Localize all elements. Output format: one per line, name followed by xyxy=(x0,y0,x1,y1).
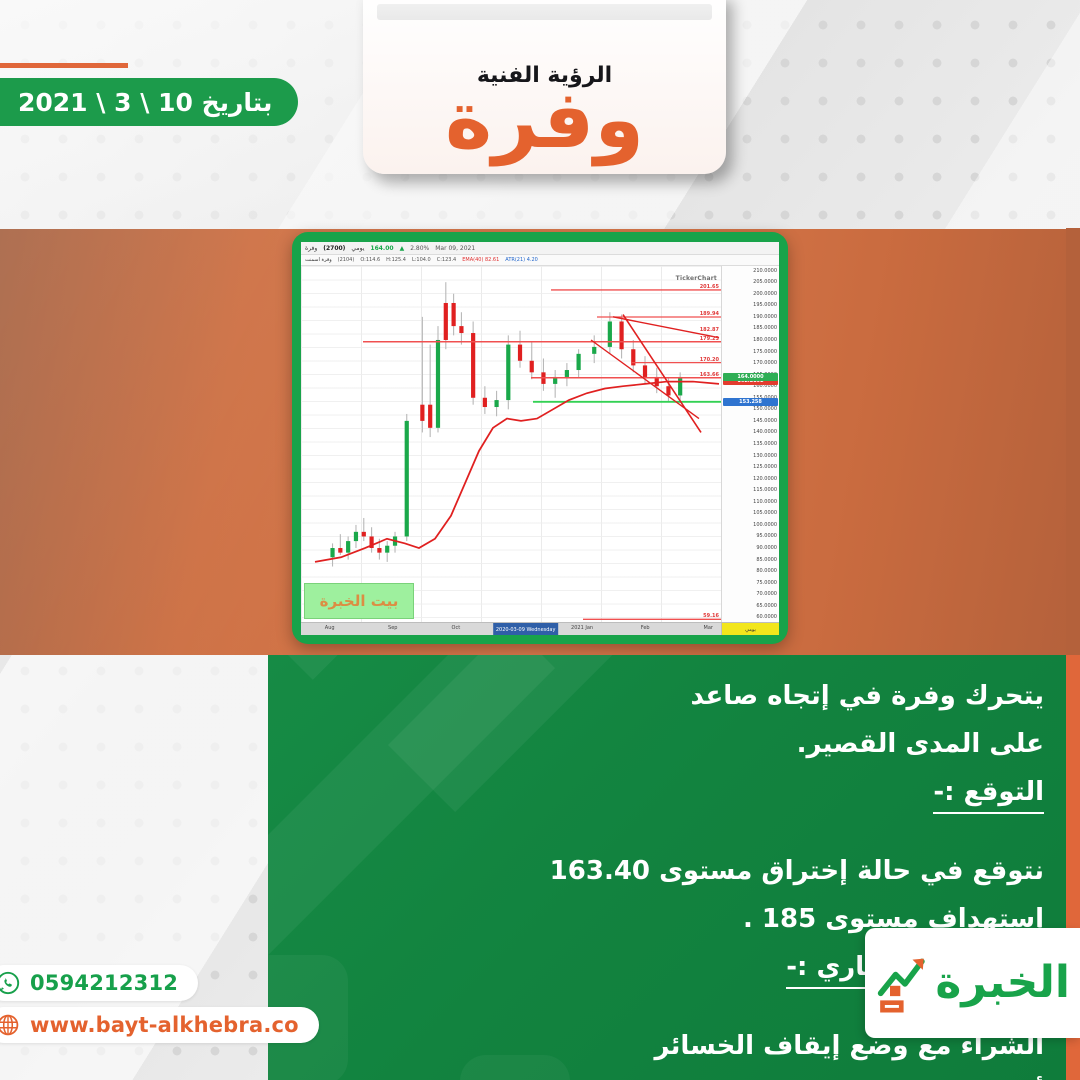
price-axis-tick: 115.0000 xyxy=(753,487,777,493)
time-axis-tick: Mar xyxy=(704,625,713,631)
chart-symbol-code: (2700) xyxy=(323,245,345,252)
whatsapp-icon xyxy=(0,971,20,995)
chart-plot-area[interactable]: TickerChart بيت الخبرة 201.65189.94182.8… xyxy=(301,266,721,622)
chart-level-label: 201.65 xyxy=(700,284,719,290)
price-axis-tick: 150.0000 xyxy=(753,406,777,412)
price-axis-tick: 185.0000 xyxy=(753,325,777,331)
price-axis-tick: 205.0000 xyxy=(753,279,777,285)
time-axis-tick: Sep xyxy=(388,625,397,631)
chart-price-axis[interactable]: 210.0000205.0000200.0000195.0000190.0000… xyxy=(721,266,779,622)
chart-ohlc-close: C:123.4 xyxy=(437,257,457,263)
price-axis-tick: 120.0000 xyxy=(753,476,777,482)
analysis-line: التوقع :- xyxy=(344,779,1044,836)
price-axis-tick: 190.0000 xyxy=(753,314,777,320)
bayt-alkhebra-watermark-text: بيت الخبرة xyxy=(320,592,399,610)
date-badge-label: بتاريخ 10 \ 3 \ 2021 xyxy=(18,88,272,117)
title-card: الرؤية الفنية وفرة xyxy=(363,0,726,174)
orange-rule-divider xyxy=(0,63,128,68)
chart-screenshot[interactable]: وفرة (2700) يومي 164.00 ▲ 2.80% Mar 09, … xyxy=(301,242,779,635)
analysis-line: نتوقع في حالة إختراق مستوى 163.40 xyxy=(344,858,1044,884)
chart-code-2: (2104) xyxy=(338,257,355,263)
price-axis-tick: 80.0000 xyxy=(756,568,777,574)
analysis-line: على المدى القصير. xyxy=(344,731,1044,757)
price-axis-tick: 75.0000 xyxy=(756,580,777,586)
chart-date: Mar 09, 2021 xyxy=(435,245,475,252)
company-logo-card[interactable]: الخبرة xyxy=(865,928,1080,1038)
contact-phone-pill[interactable]: 0594212312 xyxy=(0,965,198,1001)
price-axis-tick: 95.0000 xyxy=(756,533,777,539)
price-axis-tick: 85.0000 xyxy=(756,557,777,563)
analysis-line-text: نتوقع في حالة إختراق مستوى 163.40 xyxy=(344,858,1044,884)
logo-wordmark: الخبرة xyxy=(935,961,1070,1005)
price-axis-tick: 170.0000 xyxy=(753,360,777,366)
chart-symbol-ar: وفرة xyxy=(305,245,317,252)
chart-time-axis[interactable]: يومي AugSepOctNov2021 JanFebMar2020-03-0… xyxy=(301,622,779,635)
price-axis-tick: 140.0000 xyxy=(753,429,777,435)
analysis-line-text: يتحرك وفرة في إتجاه صاعد xyxy=(344,683,1044,709)
time-axis-selected-label: 2020-03-09 Wednesday xyxy=(493,623,559,635)
price-axis-tick: 200.0000 xyxy=(753,291,777,297)
right-edge-strip-top xyxy=(1066,228,1080,655)
price-axis-tick: 100.0000 xyxy=(753,522,777,528)
chart-overlay-lines xyxy=(301,266,721,622)
growth-arrow-house-icon xyxy=(875,952,929,1014)
globe-icon xyxy=(0,1013,20,1037)
page-title: وفرة xyxy=(445,82,644,158)
chart-indicator-ema: EMA(40) 82.61 xyxy=(462,257,499,263)
phone-number: 0594212312 xyxy=(30,971,178,995)
chart-last-price: 164.00 xyxy=(370,245,393,252)
price-axis-tick: 175.0000 xyxy=(753,349,777,355)
chart-change-arrow-icon: ▲ xyxy=(400,245,405,252)
price-axis-tick: 65.0000 xyxy=(756,603,777,609)
chart-level-label: 163.66 xyxy=(700,372,719,378)
time-axis-tick: Feb xyxy=(641,625,650,631)
chart-level-label: 179.23 xyxy=(700,336,719,342)
price-axis-tick: 125.0000 xyxy=(753,464,777,470)
chart-time-axis-corner: يومي xyxy=(721,623,779,635)
price-axis-tick: 130.0000 xyxy=(753,453,777,459)
price-axis-badge: 153.258 xyxy=(723,398,778,406)
chart-ohlc-low: L:104.0 xyxy=(412,257,431,263)
chart-level-label: 59.16 xyxy=(703,613,719,619)
price-axis-tick: 60.0000 xyxy=(756,614,777,620)
header: بتاريخ 10 \ 3 \ 2021 الرؤية الفنية وفرة xyxy=(0,0,1080,230)
price-axis-tick: 145.0000 xyxy=(753,418,777,424)
price-axis-tick: 105.0000 xyxy=(753,510,777,516)
price-axis-tick: 180.0000 xyxy=(753,337,777,343)
price-axis-tick: 135.0000 xyxy=(753,441,777,447)
tickerchart-watermark: TickerChart xyxy=(676,275,717,282)
chart-info-bar-secondary: وفرة اسمنت (2104) O:114.6 H:125.4 L:104.… xyxy=(301,255,779,266)
chart-info-bar-primary: وفرة (2700) يومي 164.00 ▲ 2.80% Mar 09, … xyxy=(301,242,779,255)
chart-level-label: 189.94 xyxy=(700,311,719,317)
date-badge: بتاريخ 10 \ 3 \ 2021 xyxy=(0,78,298,126)
logo-text-main: الخبرة xyxy=(935,957,1070,1008)
time-axis-tick: 2021 Jan xyxy=(571,625,593,631)
price-axis-tick: 210.0000 xyxy=(753,268,777,274)
chart-ohlc-open: O:114.6 xyxy=(360,257,380,263)
chart-change-pct: 2.80% xyxy=(410,245,429,252)
chart-name-ar: وفرة اسمنت xyxy=(305,257,332,263)
price-axis-tick: 195.0000 xyxy=(753,302,777,308)
contact-website-pill[interactable]: www.bayt-alkhebra.co xyxy=(0,1007,319,1043)
price-axis-tick: 90.0000 xyxy=(756,545,777,551)
chart-timeframe: يومي xyxy=(351,245,364,252)
analysis-line: يتحرك وفرة في إتجاه صاعد xyxy=(344,683,1044,709)
chart-frame: وفرة (2700) يومي 164.00 ▲ 2.80% Mar 09, … xyxy=(292,232,788,644)
time-axis-tick: Oct xyxy=(452,625,461,631)
chart-indicator-atr: ATR(21) 4.20 xyxy=(505,257,538,263)
chart-level-label: 182.87 xyxy=(700,327,719,333)
chart-ohlc-high: H:125.4 xyxy=(386,257,406,263)
analysis-line-text: التوقع :- xyxy=(933,779,1044,814)
analysis-line-text: على المدى القصير. xyxy=(344,731,1044,757)
website-url: www.bayt-alkhebra.co xyxy=(30,1013,299,1037)
bayt-alkhebra-watermark-box: بيت الخبرة xyxy=(304,583,414,619)
price-axis-badge: 164.0000 xyxy=(723,373,778,381)
price-axis-tick: 70.0000 xyxy=(756,591,777,597)
time-axis-tick: Aug xyxy=(325,625,335,631)
price-axis-tick: 110.0000 xyxy=(753,499,777,505)
chart-level-label: 170.20 xyxy=(700,357,719,363)
